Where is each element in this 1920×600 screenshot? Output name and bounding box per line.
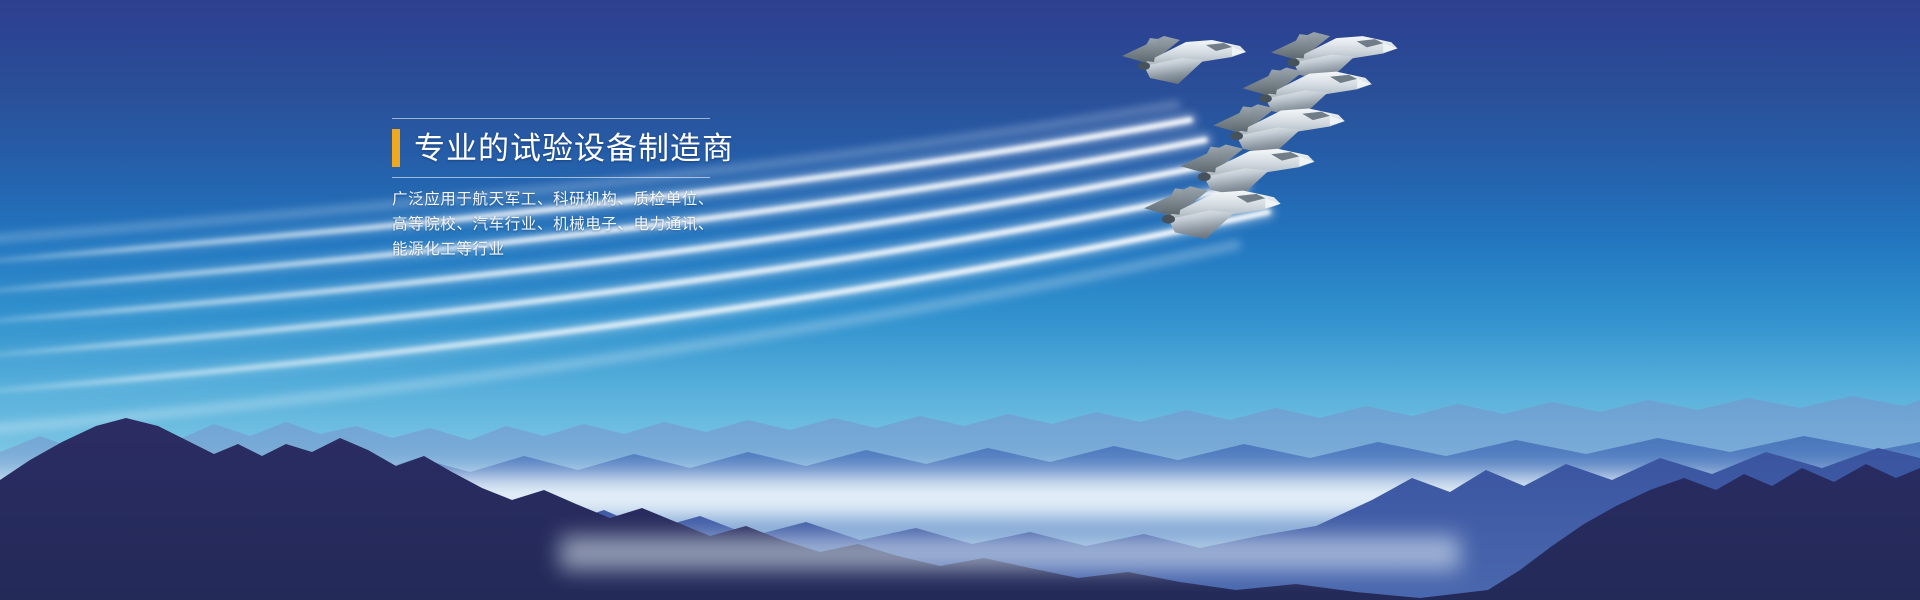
accent-bar-icon bbox=[392, 129, 400, 167]
sky-background bbox=[0, 0, 1920, 600]
headline-row: 专业的试验设备制造商 bbox=[392, 119, 732, 177]
hero-banner: 专业的试验设备制造商 广泛应用于航天军工、科研机构、质检单位、 高等院校、汽车行… bbox=[0, 0, 1920, 600]
subtitle-line-2: 高等院校、汽车行业、机械电子、电力通讯、 bbox=[392, 212, 732, 237]
subtitle-line-1: 广泛应用于航天军工、科研机构、质检单位、 bbox=[392, 187, 732, 212]
headline-rule-bottom bbox=[392, 177, 710, 178]
page-title: 专业的试验设备制造商 bbox=[414, 133, 734, 164]
banner-subtitle: 广泛应用于航天军工、科研机构、质检单位、 高等院校、汽车行业、机械电子、电力通讯… bbox=[392, 187, 732, 262]
subtitle-line-3: 能源化工等行业 bbox=[392, 237, 732, 262]
banner-copy: 专业的试验设备制造商 广泛应用于航天军工、科研机构、质检单位、 高等院校、汽车行… bbox=[392, 118, 732, 262]
